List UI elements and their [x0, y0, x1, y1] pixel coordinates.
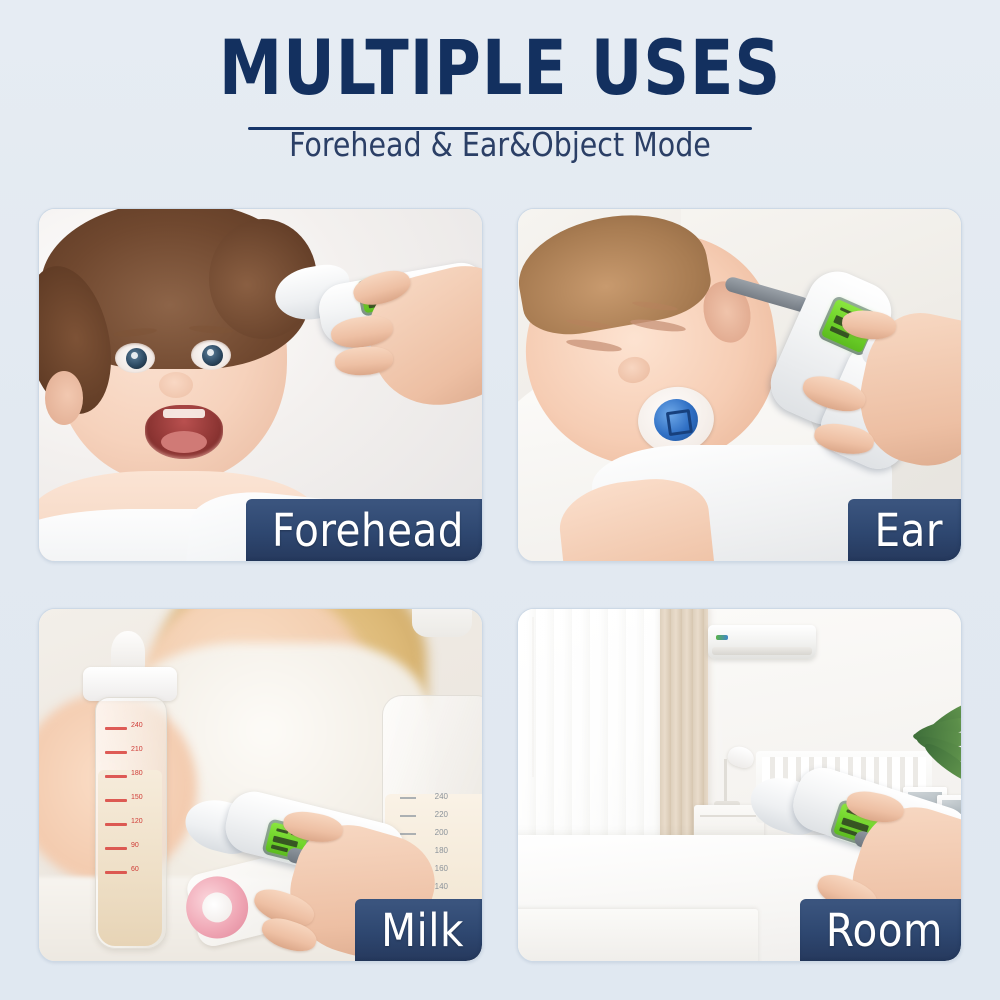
baby-ear	[45, 371, 83, 425]
panel-label-badge-room: Room	[800, 899, 961, 961]
sheer-curtain	[518, 609, 668, 857]
iris-right	[202, 345, 223, 366]
ac-vent	[712, 647, 812, 655]
bottle-right-nipple	[412, 609, 472, 637]
panel-label-text: Room	[826, 908, 943, 953]
page-title: MULTIPLE USES	[35, 0, 965, 106]
baby-tongue	[161, 431, 207, 453]
hand-holding-thermometer	[818, 305, 961, 495]
product-feature-page: MULTIPLE USES Forehead & Ear&Object Mode	[0, 0, 1000, 1000]
bottle-tick-label: 200	[435, 828, 448, 837]
header: MULTIPLE USES Forehead & Ear&Object Mode	[0, 0, 1000, 200]
iris-left	[126, 348, 147, 369]
panel-label-badge-milk: Milk	[355, 899, 482, 961]
bed-footboard	[518, 909, 758, 961]
panel-label-text: Ear	[874, 508, 943, 553]
pacifier-handle	[651, 396, 700, 444]
panel-label-badge-forehead: Forehead	[246, 499, 482, 561]
bottle-tick-label: 220	[435, 810, 448, 819]
bottle-tick-label: 140	[435, 882, 448, 891]
baby-mouth	[145, 405, 223, 459]
bottle-tick-label: 160	[435, 864, 448, 873]
panel-label-badge-ear: Ear	[848, 499, 961, 561]
pacifier-marking	[666, 409, 693, 436]
bottle-tick-label: 240	[435, 792, 448, 801]
panel-forehead[interactable]: Forehead	[38, 208, 483, 562]
panel-room[interactable]: Room	[517, 608, 962, 962]
air-conditioner	[708, 625, 816, 659]
ac-indicator-light	[716, 635, 728, 640]
baby-teeth	[163, 409, 205, 418]
baby-eye-left	[115, 343, 155, 373]
panel-milk[interactable]: 240 210 180 150 120 90 60	[38, 608, 483, 962]
baby-eye-right	[191, 340, 231, 370]
panel-ear[interactable]: Ear	[517, 208, 962, 562]
feature-panel-grid: Forehead	[38, 208, 962, 962]
baby-nose	[159, 372, 193, 398]
panel-label-text: Milk	[381, 908, 464, 953]
lamp-pole	[724, 759, 727, 805]
bottle-tick-label: 180	[435, 846, 448, 855]
hand-holding-thermometer	[325, 259, 482, 429]
page-subtitle: Forehead & Ear&Object Mode	[20, 106, 980, 162]
panel-label-text: Forehead	[272, 508, 464, 553]
